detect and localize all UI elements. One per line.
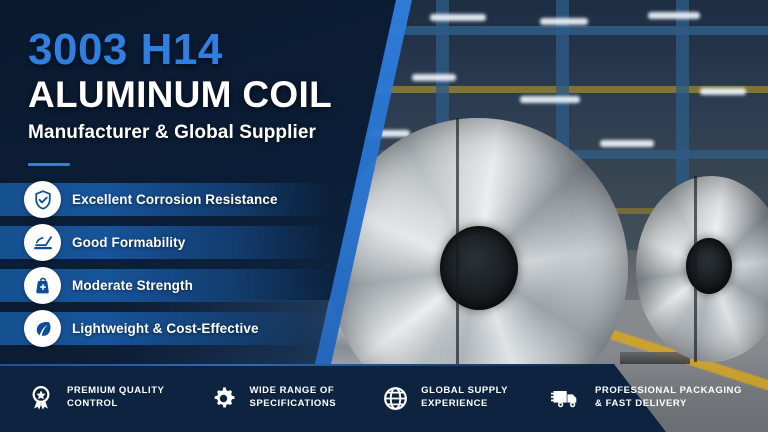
feature-label: Excellent Corrosion Resistance: [72, 192, 278, 207]
bottom-bar-line2: SPECIFICATIONS: [249, 398, 336, 411]
ceiling-lamp: [430, 14, 486, 21]
coil-center-hole: [686, 238, 732, 294]
feature-label: Good Formability: [72, 235, 185, 250]
coil-seam: [694, 176, 697, 362]
ceiling-lamp: [540, 18, 588, 25]
bottom-bar-line1: PROFESSIONAL PACKAGING: [595, 385, 742, 398]
promotional-banner: 3003 H14 ALUMINUM COIL Manufacturer & Gl…: [0, 0, 768, 432]
feature-row: Lightweight & Cost-Effective: [0, 312, 330, 345]
bottom-bar-line1: PREMIUM QUALITY: [67, 385, 164, 398]
ceiling-lamp: [648, 12, 700, 19]
page-subtitle: Manufacturer & Global Supplier: [28, 122, 388, 144]
bottom-bar-item-text: GLOBAL SUPPLY EXPERIENCE: [421, 385, 508, 411]
shield-check-icon: [24, 181, 61, 218]
headline-block: 3003 H14 ALUMINUM COIL Manufacturer & Gl…: [28, 28, 388, 144]
ceiling-lamp: [520, 96, 580, 103]
page-title-grade: 3003 H14: [28, 28, 388, 72]
feature-row: Excellent Corrosion Resistance: [0, 183, 330, 216]
leaf-icon: [24, 310, 61, 347]
bottom-bar-items: PREMIUM QUALITY CONTROL WIDE RANGE OF SP…: [0, 364, 700, 432]
bottom-bar-line2: & FAST DELIVERY: [595, 398, 742, 411]
bottom-bar-line1: GLOBAL SUPPLY: [421, 385, 508, 398]
weight-icon: [24, 267, 61, 304]
bottom-bar-item-text: WIDE RANGE OF SPECIFICATIONS: [249, 385, 336, 411]
feature-row: Moderate Strength: [0, 269, 330, 302]
bottom-bar-item-quality: PREMIUM QUALITY CONTROL: [26, 383, 164, 413]
feature-row: Good Formability: [0, 226, 330, 259]
bottom-bar-item-text: PROFESSIONAL PACKAGING & FAST DELIVERY: [595, 385, 742, 411]
bottom-bar-item-text: PREMIUM QUALITY CONTROL: [67, 385, 164, 411]
award-ribbon-icon: [26, 383, 56, 413]
coil-center-hole: [440, 226, 518, 310]
metal-bending-icon: [24, 224, 61, 261]
feature-label: Lightweight & Cost-Effective: [72, 321, 259, 336]
gear-icon: [208, 383, 238, 413]
ceiling-lamp: [600, 140, 654, 147]
bottom-bar-line1: WIDE RANGE OF: [249, 385, 336, 398]
bottom-bar-item-delivery: PROFESSIONAL PACKAGING & FAST DELIVERY: [550, 383, 742, 413]
bottom-bar-line2: CONTROL: [67, 398, 164, 411]
truck-icon: [550, 383, 584, 413]
bottom-bar-item-global-supply: GLOBAL SUPPLY EXPERIENCE: [380, 383, 508, 413]
ceiling-lamp: [412, 74, 456, 81]
bottom-bar-line2: EXPERIENCE: [421, 398, 508, 411]
feature-list: Excellent Corrosion Resistance Good Form…: [0, 183, 330, 355]
accent-divider: [28, 163, 70, 166]
page-title-product: ALUMINUM COIL: [28, 76, 388, 113]
globe-icon: [380, 383, 410, 413]
ceiling-lamp: [700, 88, 746, 95]
bottom-bar-item-specifications: WIDE RANGE OF SPECIFICATIONS: [208, 383, 336, 413]
feature-label: Moderate Strength: [72, 278, 193, 293]
